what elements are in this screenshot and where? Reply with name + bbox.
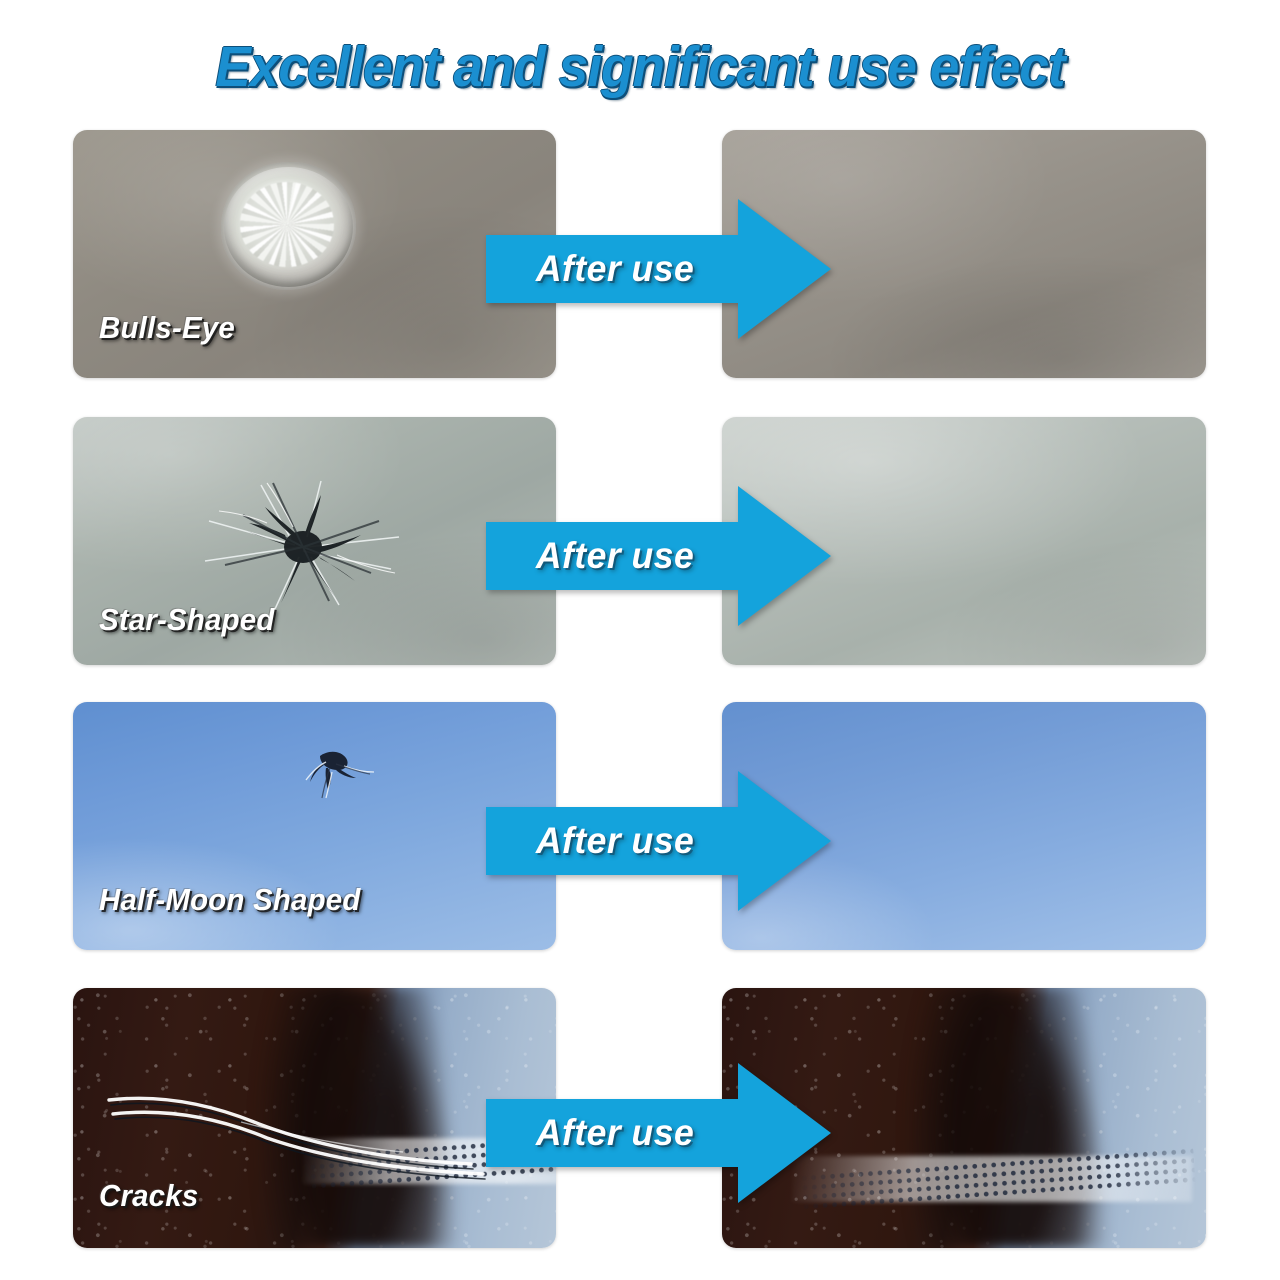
before-panel-star-shaped: Star-Shaped xyxy=(73,417,556,665)
comparison-row-star-shaped: Star-Shaped After use xyxy=(0,417,1280,665)
after-use-arrow-star-shaped: After use xyxy=(486,486,831,626)
before-panel-half-moon: Half-Moon Shaped xyxy=(73,702,556,950)
after-use-arrow-half-moon: After use xyxy=(486,771,831,911)
arrow-right-icon xyxy=(486,486,831,626)
bulls-eye-damage-mark xyxy=(221,162,356,290)
comparison-row-cracks: Cracks After use xyxy=(0,988,1280,1248)
comparison-row-half-moon: Half-Moon Shaped After use xyxy=(0,702,1280,950)
page-title: Excellent and significant use effect xyxy=(45,34,1235,100)
arrow-right-icon xyxy=(486,1063,831,1203)
damage-label-half-moon: Half-Moon Shaped xyxy=(99,882,361,918)
before-panel-bulls-eye: Bulls-Eye xyxy=(73,130,556,378)
after-use-arrow-cracks: After use xyxy=(486,1063,831,1203)
arrow-right-icon xyxy=(486,771,831,911)
arrow-right-icon xyxy=(486,199,831,339)
star-shaped-damage-mark xyxy=(203,477,403,612)
before-panel-cracks: Cracks xyxy=(73,988,556,1248)
damage-label-bulls-eye: Bulls-Eye xyxy=(99,310,235,346)
infographic-canvas: Excellent and significant use effect Bul… xyxy=(0,0,1280,1280)
half-moon-damage-mark xyxy=(298,740,374,802)
damage-label-star-shaped: Star-Shaped xyxy=(99,602,275,638)
after-use-arrow-bulls-eye: After use xyxy=(486,199,831,339)
comparison-row-bulls-eye: Bulls-Eye After use xyxy=(0,130,1280,378)
damage-label-cracks: Cracks xyxy=(99,1178,198,1214)
